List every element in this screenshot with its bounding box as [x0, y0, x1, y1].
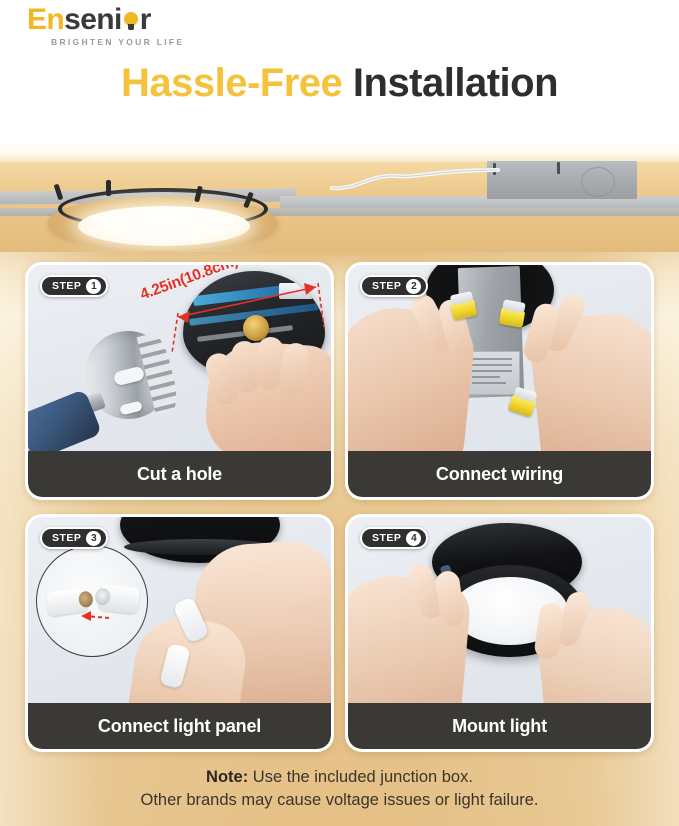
note-line-1: Use the included junction box. [248, 768, 473, 786]
step-caption-1: Cut a hole [28, 451, 331, 497]
step-caption-2: Connect wiring [348, 451, 651, 497]
logo-suffix-a: seni [64, 5, 122, 35]
page-title-highlight: Hassle-Free [121, 61, 342, 105]
step-number-4: 4 [406, 531, 421, 546]
step-badge-1: STEP 1 [40, 275, 108, 297]
page-title: Hassle-Free Installation [0, 62, 679, 104]
logo-wordmark: Ensenir [27, 5, 151, 35]
step-number-2: 2 [406, 279, 421, 294]
note-label: Note: [206, 768, 248, 786]
junction-box-icon [487, 161, 637, 199]
cable-icon [330, 168, 500, 194]
page-title-rest: Installation [353, 61, 558, 105]
step-badge-3: STEP 3 [40, 527, 108, 549]
junction-box-label [468, 351, 520, 395]
hero-ceiling-illustration [0, 140, 679, 252]
step-card-3[interactable]: STEP 3 Connect light panel [25, 514, 334, 752]
step-card-2[interactable]: STEP 2 Connect wiring [345, 262, 654, 500]
step-badge-label-4: STEP [372, 532, 401, 544]
step-badge-label-1: STEP [52, 280, 81, 292]
lightbulb-icon [122, 12, 140, 30]
header: Ensenir BRIGHTEN YOUR LIFE Hassle-Free I… [0, 0, 679, 140]
step-number-1: 1 [86, 279, 101, 294]
wire-connector-icon [508, 394, 536, 418]
logo-suffix-b: r [140, 5, 151, 35]
step-badge-label-3: STEP [52, 532, 81, 544]
step-badge-label-2: STEP [372, 280, 401, 292]
footer-note: Note: Use the included junction box. Oth… [0, 766, 679, 813]
note-line-2: Other brands may cause voltage issues or… [0, 789, 679, 812]
brand-logo: Ensenir BRIGHTEN YOUR LIFE [27, 5, 184, 47]
steps-grid: 4.25in(10.8cm) STEP 1 Cut a hole [0, 252, 679, 762]
step-badge-2: STEP 2 [360, 275, 428, 297]
magnifier-callout-icon [36, 545, 148, 657]
brand-tagline: BRIGHTEN YOUR LIFE [51, 37, 184, 47]
infographic-page: Ensenir BRIGHTEN YOUR LIFE Hassle-Free I… [0, 0, 679, 826]
logo-prefix: En [27, 5, 64, 35]
step-card-1[interactable]: 4.25in(10.8cm) STEP 1 Cut a hole [25, 262, 334, 500]
step-caption-4: Mount light [348, 703, 651, 749]
step-card-4[interactable]: STEP 4 Mount light [345, 514, 654, 752]
step-number-3: 3 [86, 531, 101, 546]
connect-arrow-icon [37, 546, 148, 657]
step-badge-4: STEP 4 [360, 527, 428, 549]
recessed-ceiling-light-icon [48, 188, 278, 250]
step-caption-3: Connect light panel [28, 703, 331, 749]
